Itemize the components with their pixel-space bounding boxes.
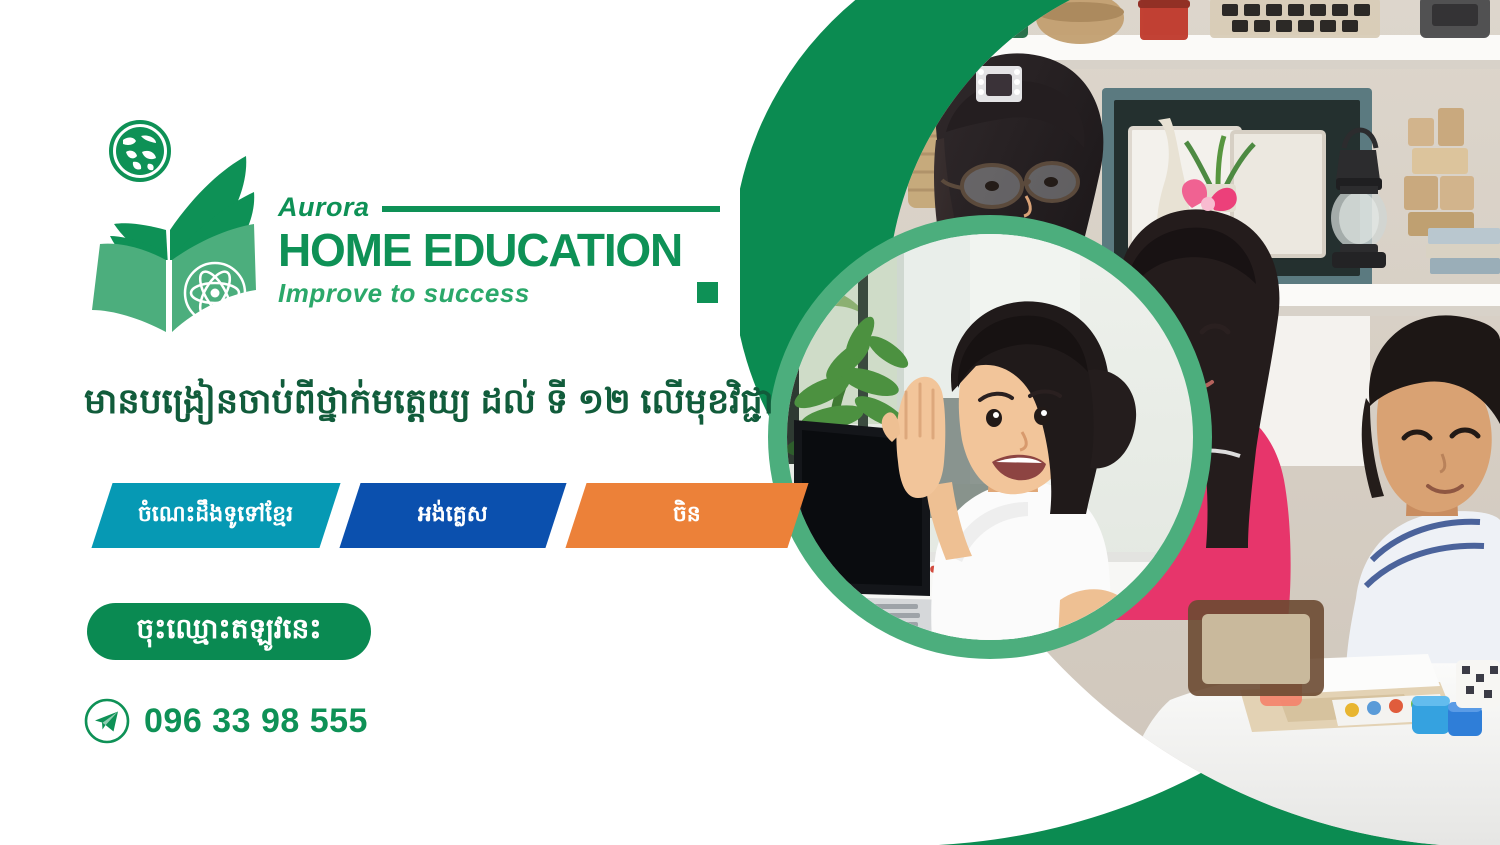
brand-logo[interactable]: Aurora HOME EDUCATION Improve to success xyxy=(78,118,720,333)
subject-tab-chinese[interactable]: ចិន xyxy=(565,483,808,548)
contact-row[interactable]: 096 33 98 555 xyxy=(84,698,368,744)
subject-tabs: ចំណេះដឹងទូទៅខ្មែរ អង់គ្លេស ចិន xyxy=(88,483,798,548)
subject-tab-english[interactable]: អង់គ្លេស xyxy=(339,483,566,548)
globe-icon xyxy=(111,122,169,180)
books xyxy=(1426,228,1500,274)
promotional-banner: Aurora HOME EDUCATION Improve to success… xyxy=(0,0,1500,845)
brand-name-main: HOME EDUCATION xyxy=(278,226,720,276)
open-book-globe-atom-logo-icon xyxy=(78,118,268,333)
hair-clip xyxy=(976,66,1022,102)
telegram-icon[interactable] xyxy=(84,698,130,744)
artwork-panel xyxy=(740,0,1500,845)
brand-square-mark xyxy=(697,282,718,303)
content-panel: Aurora HOME EDUCATION Improve to success… xyxy=(0,0,770,845)
subject-tab-khmer[interactable]: ចំណេះដឹងទូទៅខ្មែរ xyxy=(91,483,340,548)
subject-tab-chinese-label: ចិន xyxy=(673,500,701,532)
brand-rule xyxy=(382,206,720,212)
brand-name-small: Aurora xyxy=(278,194,370,221)
register-now-button[interactable]: ចុះឈ្មោះតឡូវនេះ xyxy=(87,603,371,660)
subject-tab-khmer-label: ចំណេះដឹងទូទៅខ្មែរ xyxy=(138,500,293,532)
brand-slogan: Improve to success xyxy=(278,280,530,306)
page-headline: មានបង្រៀនចាប់ពីថ្នាក់មត្តេយ្យ ដល់ ទី ១២ … xyxy=(84,378,744,425)
subject-tab-english-label: អង់គ្លេស xyxy=(418,500,488,532)
patterned-cup xyxy=(1456,660,1500,708)
phone-number[interactable]: 096 33 98 555 xyxy=(144,704,368,738)
wood-blocks xyxy=(1404,108,1474,236)
inset-photo-circle xyxy=(768,215,1212,659)
brand-wordmark: Aurora HOME EDUCATION Improve to success xyxy=(278,192,720,306)
